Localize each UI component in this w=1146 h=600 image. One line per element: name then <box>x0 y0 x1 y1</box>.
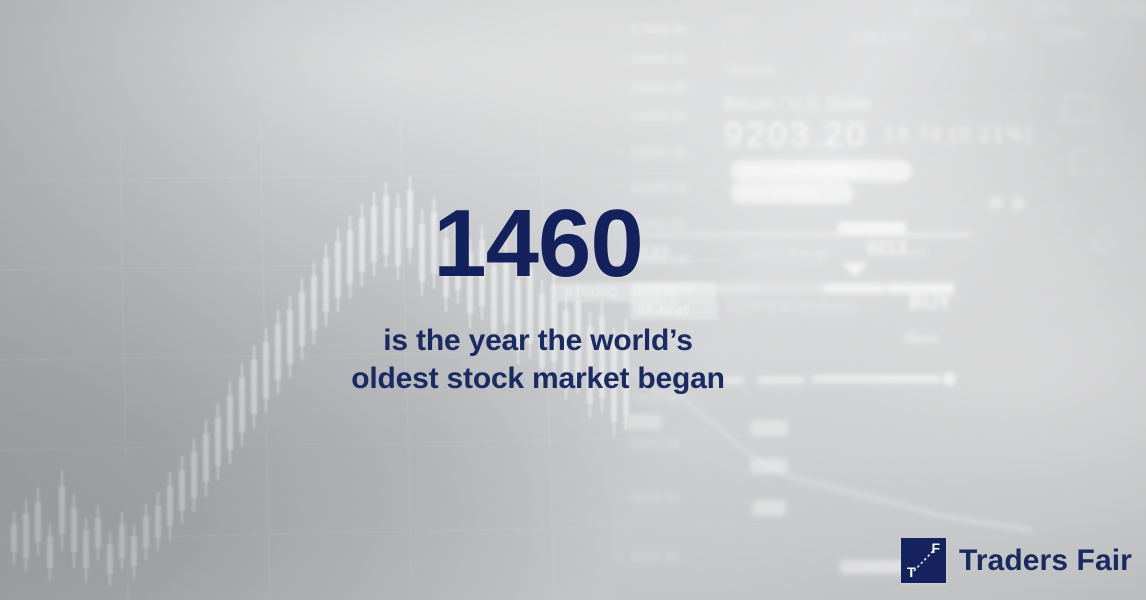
change-percent: (0.21%) <box>950 124 1034 147</box>
subtitle: is the year the world’s oldest stock mar… <box>0 322 1146 399</box>
axis-tick-13000: 13000.00 <box>630 145 687 160</box>
axis-tick-16000: 16000.00 <box>630 51 687 66</box>
ask-pill-label: 9203.32×0.04128944 <box>740 163 863 178</box>
watchlist-change-es1: 16.00 <box>970 28 1008 45</box>
crosshair-tooltip-time: 22:48:45 <box>638 303 690 318</box>
window-icon[interactable] <box>1072 150 1104 174</box>
axis-tick-17000: 17000.00 <box>630 22 687 37</box>
traders-fair-mark-icon: T F <box>901 538 946 583</box>
watchlist-change-xbt: 19.74 <box>1032 1 1070 18</box>
last-price: 9203.20 <box>724 116 868 155</box>
axis-tick-14000: 14000.00 <box>630 109 687 124</box>
axis-tick-15000: 15000.00 <box>630 80 687 95</box>
headline-number-value: 1460 <box>433 196 643 292</box>
watchlist-symbol-xbt[interactable]: XBT <box>722 16 751 33</box>
brand-logo[interactable]: T F Traders Fair <box>901 538 1132 583</box>
watchlist-percent-es1: 0.55% <box>1044 26 1087 43</box>
watchlist-last-xbt: 9203.26 <box>912 3 966 20</box>
subtitle-line-1: is the year the world’s <box>0 322 1146 360</box>
technical-analysis-label: Technical analysis <box>726 298 855 316</box>
buy-button[interactable]: BUY <box>909 292 951 315</box>
subtitle-line-2: oldest stock market began <box>0 360 1146 398</box>
headline-number: 1460 <box>0 196 1146 292</box>
mark-letter-t: T <box>907 564 916 580</box>
watchlist-last-es1: 2953.00 <box>852 29 910 47</box>
watchlist-symbol-es1[interactable]: ES1! <box>722 36 755 53</box>
watchlist-percent-xbt: (0.21%) <box>1112 0 1146 17</box>
change-absolute: 19.74 <box>884 124 944 147</box>
mark-letter-f: F <box>931 540 940 556</box>
screenshot-icon[interactable] <box>1064 96 1098 122</box>
details-label[interactable]: Details <box>724 60 776 80</box>
instrument-name: Bitcoin / U.S. Dollar <box>724 94 871 114</box>
brand-name: Traders Fair <box>959 544 1132 578</box>
promo-card: 17000.00 16000.00 15000.00 14000.00 1300… <box>0 0 1146 600</box>
